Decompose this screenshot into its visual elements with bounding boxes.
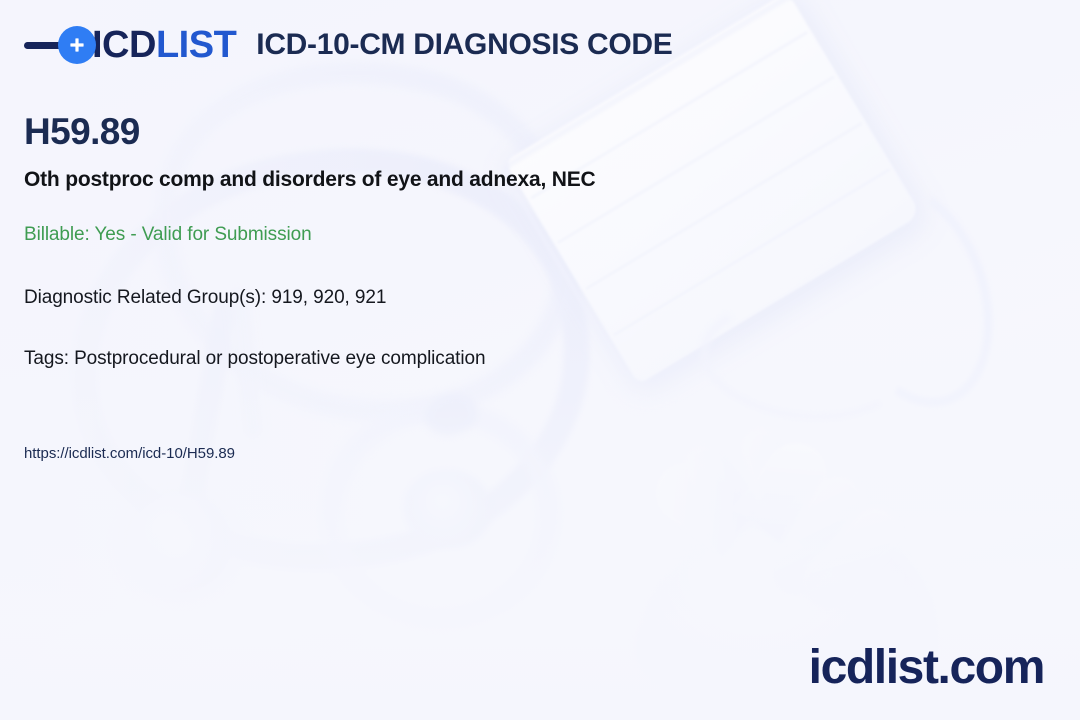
- tags-line: Tags: Postprocedural or postoperative ey…: [24, 348, 485, 370]
- diagnosis-code: H59.89: [24, 113, 140, 150]
- diagnostic-related-groups: Diagnostic Related Group(s): 919, 920, 9…: [24, 287, 386, 309]
- diagnosis-description: Oth postproc comp and disorders of eye a…: [24, 167, 595, 193]
- logo-word-icd: ICD: [92, 24, 156, 66]
- icdlist-logo[interactable]: ICDLIST: [24, 26, 236, 64]
- diagnosis-code-card: ICDLIST ICD-10-CM DIAGNOSIS CODE H59.89 …: [0, 0, 1080, 720]
- logo-wordmark: ICDLIST: [92, 26, 236, 64]
- card-header: ICDLIST ICD-10-CM DIAGNOSIS CODE: [24, 26, 672, 64]
- source-url[interactable]: https://icdlist.com/icd-10/H59.89: [24, 445, 235, 462]
- footer-brand: icdlist.com: [809, 644, 1044, 692]
- page-title: ICD-10-CM DIAGNOSIS CODE: [256, 28, 672, 62]
- logo-word-list: LIST: [156, 24, 236, 66]
- card-content: ICDLIST ICD-10-CM DIAGNOSIS CODE H59.89 …: [0, 0, 1080, 720]
- billable-status: Billable: Yes - Valid for Submission: [24, 224, 312, 246]
- plus-circle-icon: [58, 26, 96, 64]
